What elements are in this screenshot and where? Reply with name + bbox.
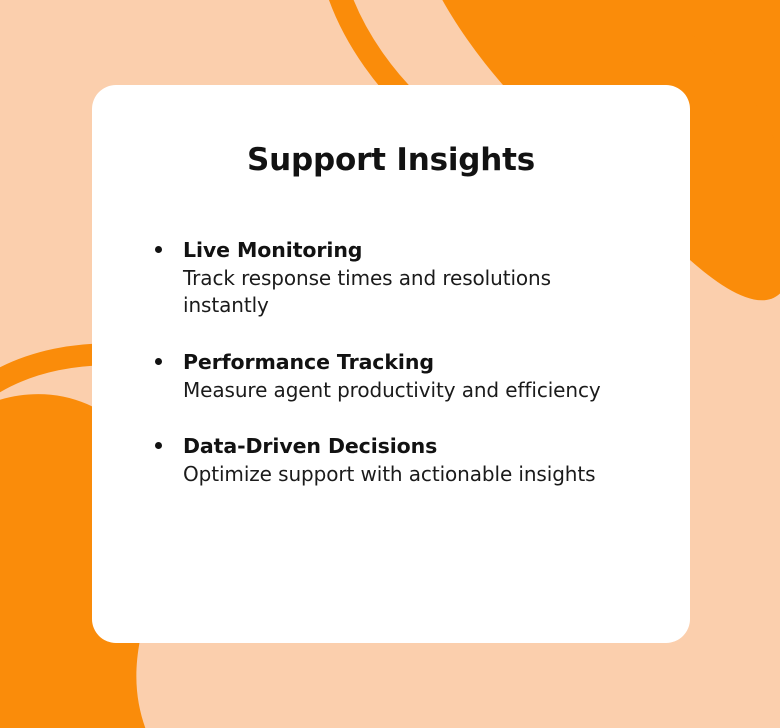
bullet-point-icon xyxy=(155,358,162,365)
list-item: Performance Tracking Measure agent produ… xyxy=(155,349,655,404)
feature-title: Live Monitoring xyxy=(183,237,655,265)
feature-title: Data-Driven Decisions xyxy=(183,433,655,461)
list-item: Data-Driven Decisions Optimize support w… xyxy=(155,433,655,488)
feature-title: Performance Tracking xyxy=(183,349,655,377)
feature-description: Track response times and resolutions ins… xyxy=(183,265,603,320)
content-card: Support Insights Live Monitoring Track r… xyxy=(92,85,690,643)
page-title: Support Insights xyxy=(92,143,690,177)
bullet-point-icon xyxy=(155,246,162,253)
feature-list: Live Monitoring Track response times and… xyxy=(155,237,655,488)
slide-canvas: Support Insights Live Monitoring Track r… xyxy=(0,0,780,728)
feature-description: Measure agent productivity and efficienc… xyxy=(183,377,603,405)
list-item: Live Monitoring Track response times and… xyxy=(155,237,655,320)
bullet-point-icon xyxy=(155,442,162,449)
feature-description: Optimize support with actionable insight… xyxy=(183,461,603,489)
